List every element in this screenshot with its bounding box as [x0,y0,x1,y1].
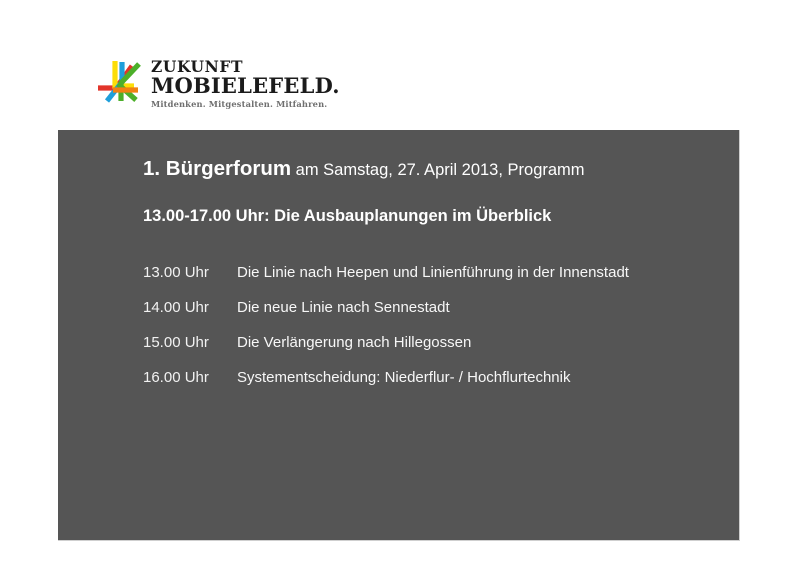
agenda-item-time: 14.00 Uhr [143,299,237,316]
agenda-item: 16.00 Uhr Systementscheidung: Niederflur… [143,369,723,386]
logo-wordmark: ZUKUNFT MOBIELEFELD. Mitdenken. Mitgesta… [151,56,340,109]
agenda-item-description: Systementscheidung: Niederflur- / Hochfl… [237,369,571,386]
agenda-item: 13.00 Uhr Die Linie nach Heepen und Lini… [143,264,723,281]
agenda-item: 15.00 Uhr Die Verlängerung nach Hillegos… [143,334,723,351]
agenda-item-description: Die neue Linie nach Sennestadt [237,299,450,316]
agenda-item-description: Die Verlängerung nach Hillegossen [237,334,471,351]
slide-title-strong: 1. Bürgerforum [143,157,291,180]
agenda-item: 14.00 Uhr Die neue Linie nach Sennestadt [143,299,723,316]
agenda-item-time: 13.00 Uhr [143,264,237,281]
logo-tagline: Mitdenken. Mitgestalten. Mitfahren. [151,99,340,109]
logo-line-mobielefeld: MOBIELEFELD. [151,75,340,96]
slide-panel: 1. Bürgerforum am Samstag, 27. April 201… [58,130,740,541]
slide-title-rest: am Samstag, 27. April 2013, Programm [291,161,584,179]
star-logo-svg [94,56,143,105]
slide-title: 1. Bürgerforum am Samstag, 27. April 201… [143,157,585,182]
brand-logo: ZUKUNFT MOBIELEFELD. Mitdenken. Mitgesta… [94,56,340,109]
agenda-list: 13.00 Uhr Die Linie nach Heepen und Lini… [143,264,723,404]
slide-subtitle: 13.00-17.00 Uhr: Die Ausbauplanungen im … [143,207,551,227]
agenda-item-time: 16.00 Uhr [143,369,237,386]
zukunft-mobielefeld-star-logo [94,56,143,105]
agenda-item-description: Die Linie nach Heepen und Linienführung … [237,264,629,281]
agenda-item-time: 15.00 Uhr [143,334,237,351]
